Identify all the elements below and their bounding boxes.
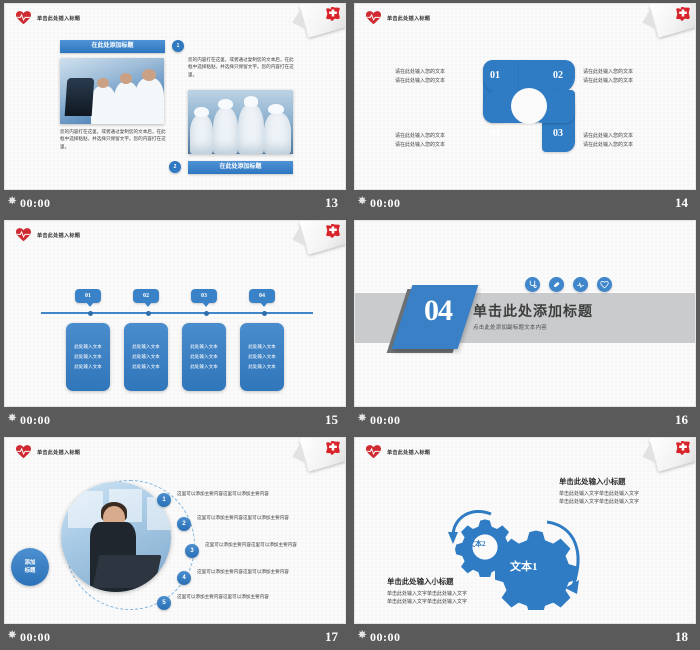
capsule-pill-icon[interactable] [549, 277, 564, 292]
sparkle-star-icon: ✵ [8, 413, 16, 424]
footer-time: 00:00 [20, 196, 51, 211]
red-medical-cross-icon [325, 7, 341, 21]
footer-time: 00:00 [20, 630, 51, 645]
timeline-box-1[interactable]: 此处输入文本 此处输入文本 此处输入文本 [66, 323, 110, 391]
list-item-text-1: 这里可以添加主要内容这里可以添加主要内容 [177, 490, 273, 498]
pinwheel-num-04: 04 [490, 128, 500, 139]
pinwheel-text-4: 请在此处输入您的文本 请在此处输入您的文本 [395, 132, 477, 149]
pinwheel-text-1: 请在此处输入您的文本 请在此处输入您的文本 [395, 68, 477, 85]
pinwheel-text-2: 请在此处输入您的文本 请在此处输入您的文本 [583, 68, 665, 85]
red-medical-cross-icon [675, 7, 691, 21]
slide-16[interactable]: 04 单击此处添加标题 点击此处添加副标题文本内容 [354, 220, 696, 407]
left-heading: 单击此处输入小标题 [387, 576, 454, 587]
timeline-bubble-03[interactable]: 03 [191, 289, 217, 303]
footer-time: 00:00 [370, 630, 401, 645]
timeline-box-2[interactable]: 此处输入文本 此处输入文本 此处输入文本 [124, 323, 168, 391]
body-text-2: 您的内容打在这里，或者通过复制您的文本后，在此框中选择粘贴，并选择只保留文字。您… [188, 56, 296, 78]
slide-18[interactable]: 单击此处插入标题 单击此处输入小标题 单击此处输入文字单击此处输入文字 单击此处… [354, 437, 696, 624]
slide-header-title: 单击此处插入标题 [37, 232, 80, 239]
list-number-5[interactable]: 5 [157, 596, 171, 610]
pinwheel-diagram[interactable]: 01 02 03 04 [483, 60, 575, 152]
slide-footer-17: ✵ 00:00 17 [4, 624, 346, 650]
slide-cell-13[interactable]: 单击此处插入标题 在此处添加标题 1 您的内容打在这里，或者通过复制您的文本后，… [0, 0, 350, 217]
pinwheel-num-02: 02 [553, 70, 563, 81]
heart-pulse-icon [16, 445, 31, 459]
slide-13[interactable]: 单击此处插入标题 在此处添加标题 1 您的内容打在这里，或者通过复制您的文本后，… [4, 3, 346, 190]
heart-pulse-icon [366, 11, 381, 25]
timeline-axis [41, 312, 313, 314]
page-number: 14 [675, 195, 688, 211]
pinwheel-text-3: 请在此处输入您的文本 请在此处输入您的文本 [583, 132, 665, 149]
heart-pulse-icon [366, 445, 381, 459]
list-item-text-3: 这里可以添加主要内容这里可以添加主要内容 [205, 541, 301, 549]
page-corner-fold [293, 221, 345, 265]
sparkle-star-icon: ✵ [358, 630, 366, 641]
slide-header: 单击此处插入标题 [16, 445, 80, 459]
slide-footer-15: ✵ 00:00 15 [4, 407, 346, 433]
slide-header: 单击此处插入标题 [16, 228, 80, 242]
timeline-bubble-04[interactable]: 04 [249, 289, 275, 303]
timeline-bubble-02[interactable]: 02 [133, 289, 159, 303]
sparkle-star-icon: ✵ [358, 413, 366, 424]
section-subtitle: 点击此处添加副标题文本内容 [473, 323, 547, 331]
pinwheel-num-01: 01 [490, 70, 500, 81]
slide-header: 单击此处插入标题 [366, 445, 430, 459]
list-item-text-5: 这里可以添加主要内容这里可以添加主要内容 [177, 593, 273, 601]
footer-time: 00:00 [20, 413, 51, 428]
badge-2: 2 [169, 161, 181, 173]
list-number-4[interactable]: 4 [177, 571, 191, 585]
list-item-text-2: 这里可以添加主要内容这里可以添加主要内容 [197, 514, 293, 522]
slide-header-title: 单击此处插入标题 [387, 449, 430, 456]
arrow-right-curve-icon [541, 518, 591, 608]
footer-time: 00:00 [370, 413, 401, 428]
heart-pulse-icon [16, 11, 31, 25]
lab-researchers-photo [60, 58, 164, 124]
red-medical-cross-icon [325, 224, 341, 238]
sparkle-star-icon: ✵ [8, 630, 16, 641]
slide-header: 单击此处插入标题 [16, 11, 80, 25]
list-number-3[interactable]: 3 [185, 544, 199, 558]
slide-footer-16: ✵ 00:00 16 [354, 407, 696, 433]
page-number: 15 [325, 412, 338, 428]
slide-header-title: 单击此处插入标题 [37, 15, 80, 22]
list-item-text-4: 这里可以添加主要内容这里可以添加主要内容 [197, 568, 293, 576]
pinwheel-num-03: 03 [553, 128, 563, 139]
page-corner-fold [293, 4, 345, 48]
body-text-1: 您的内容打在这里，或者通过复制您的文本后，在此框中选择粘贴，并选择只保留文字。您… [60, 128, 166, 150]
footer-time: 00:00 [370, 196, 401, 211]
right-body: 单击此处输入文字单击此处输入文字 单击此处输入文字单击此处输入文字 [559, 490, 639, 507]
red-medical-cross-icon [325, 441, 341, 455]
slide-footer-13: ✵ 00:00 13 [4, 190, 346, 216]
sparkle-star-icon: ✵ [358, 196, 366, 207]
page-number: 18 [675, 629, 688, 645]
slide-cell-16[interactable]: 04 单击此处添加标题 点击此处添加副标题文本内容 ✵ 00:00 16 [350, 217, 700, 434]
heart-pulse-icon [16, 228, 31, 242]
slide-14[interactable]: 单击此处插入标题 请在此处输入您的文本 请在此处输入您的文本 请在此处输入您的文… [354, 3, 696, 190]
slide-cell-15[interactable]: 单击此处插入标题 01 02 03 04 此处输入文本 此处输入文本 此处输入文… [0, 217, 350, 434]
page-number: 17 [325, 629, 338, 645]
timeline-box-3[interactable]: 此处输入文本 此处输入文本 此处输入文本 [182, 323, 226, 391]
page-corner-fold [643, 4, 695, 48]
icon-row [525, 277, 612, 292]
gear-large-label: 文本1 [510, 558, 538, 574]
section-number: 04 [407, 294, 469, 328]
section-banner-2: 在此处添加标题 [188, 161, 293, 174]
section-title: 单击此处添加标题 [473, 301, 593, 321]
medical-pulse-icon[interactable] [573, 277, 588, 292]
slide-15[interactable]: 单击此处插入标题 01 02 03 04 此处输入文本 此处输入文本 此处输入文… [4, 220, 346, 407]
left-body: 单击此处输入文字单击此处输入文字 单击此处输入文字单击此处输入文字 [387, 590, 467, 607]
add-title-circle[interactable]: 添加 标题 [11, 548, 49, 586]
slide-thumbnail-grid: 单击此处插入标题 在此处添加标题 1 您的内容打在这里，或者通过复制您的文本后，… [0, 0, 700, 649]
timeline-box-4[interactable]: 此处输入文本 此处输入文本 此处输入文本 [240, 323, 284, 391]
slide-header-title: 单击此处插入标题 [387, 15, 430, 22]
slide-header: 单击此处插入标题 [366, 11, 430, 25]
slide-header-title: 单击此处插入标题 [37, 449, 80, 456]
slide-cell-18[interactable]: 单击此处插入标题 单击此处输入小标题 单击此处输入文字单击此处输入文字 单击此处… [350, 434, 700, 649]
slide-footer-18: ✵ 00:00 18 [354, 624, 696, 650]
badge-1: 1 [172, 40, 184, 52]
slide-17[interactable]: 单击此处插入标题 添加 标题 1 这里可以添加主要内容这里可以添加主要内容 2 … [4, 437, 346, 624]
stethoscope-icon[interactable] [525, 277, 540, 292]
page-number: 13 [325, 195, 338, 211]
surgery-team-photo [188, 90, 293, 154]
list-number-1[interactable]: 1 [157, 493, 171, 507]
slide-cell-17[interactable]: 单击此处插入标题 添加 标题 1 这里可以添加主要内容这里可以添加主要内容 2 … [0, 434, 350, 649]
section-banner-1: 在此处添加标题 [60, 40, 165, 53]
red-medical-cross-icon [675, 441, 691, 455]
page-number: 16 [675, 412, 688, 428]
heart-icon[interactable] [597, 277, 612, 292]
list-number-2[interactable]: 2 [177, 517, 191, 531]
page-corner-fold [293, 438, 345, 482]
arrow-left-curve-icon [447, 508, 497, 553]
sparkle-star-icon: ✵ [8, 196, 16, 207]
timeline-bubble-01[interactable]: 01 [75, 289, 101, 303]
page-corner-fold [643, 438, 695, 482]
right-heading: 单击此处输入小标题 [559, 476, 626, 487]
businesswoman-with-laptop-photo [61, 482, 171, 592]
slide-footer-14: ✵ 00:00 14 [354, 190, 696, 216]
slide-cell-14[interactable]: 单击此处插入标题 请在此处输入您的文本 请在此处输入您的文本 请在此处输入您的文… [350, 0, 700, 217]
